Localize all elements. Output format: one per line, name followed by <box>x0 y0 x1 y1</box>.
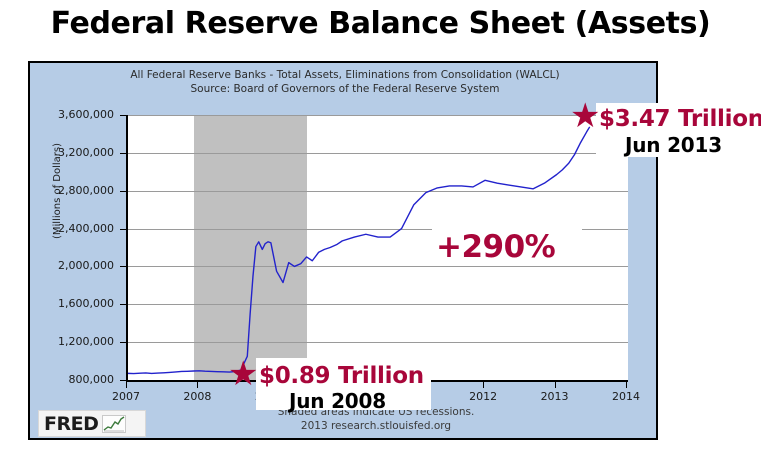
y-axis-tick-mark <box>120 380 126 381</box>
x-axis-tick-label: 2012 <box>459 390 507 403</box>
x-axis-tick-mark <box>197 382 198 388</box>
peak-date-label: Jun 2013 <box>625 133 722 157</box>
x-axis-tick-label: 2014 <box>602 390 650 403</box>
star-icon-trough: ★ <box>228 357 258 391</box>
y-axis-tick-mark <box>120 229 126 230</box>
y-axis-tick-label: 3,600,000 <box>54 108 114 121</box>
y-axis-tick-label: 2,400,000 <box>54 222 114 235</box>
growth-percent-label: +290% <box>436 229 555 265</box>
trough-date-label: Jun 2008 <box>289 389 386 413</box>
y-axis-tick-label: 1,200,000 <box>54 335 114 348</box>
x-axis-tick-mark <box>483 382 484 388</box>
y-axis-tick-mark <box>120 153 126 154</box>
x-axis-tick-label: 2008 <box>173 390 221 403</box>
y-axis-tick-mark <box>120 304 126 305</box>
chart-subtitle-line-2: Source: Board of Governors of the Federa… <box>30 82 660 96</box>
peak-value-label: $3.47 Trillion <box>599 106 761 132</box>
page-title: Federal Reserve Balance Sheet (Assets) <box>0 6 761 41</box>
chart-subtitle-line-1: All Federal Reserve Banks - Total Assets… <box>30 68 660 82</box>
y-axis-tick-label: 2,800,000 <box>54 184 114 197</box>
line-chart-icon <box>102 415 126 433</box>
y-axis-tick-mark <box>120 191 126 192</box>
y-axis-tick-label: 3,200,000 <box>54 146 114 159</box>
footer-source-note: 2013 research.stlouisfed.org <box>126 419 626 433</box>
x-axis-tick-label: 2013 <box>531 390 579 403</box>
y-axis-tick-label: 800,000 <box>54 373 114 386</box>
chart-subtitle: All Federal Reserve Banks - Total Assets… <box>30 68 660 96</box>
y-axis-tick-mark <box>120 115 126 116</box>
fred-logo[interactable]: FRED <box>38 410 146 437</box>
x-axis-tick-mark <box>555 382 556 388</box>
y-axis-tick-label: 2,000,000 <box>54 259 114 272</box>
y-axis-tick-mark <box>120 266 126 267</box>
trough-value-label: $0.89 Trillion <box>259 363 424 389</box>
y-axis-tick-label: 1,600,000 <box>54 297 114 310</box>
fred-wordmark: FRED <box>44 413 98 435</box>
x-axis-tick-mark <box>626 382 627 388</box>
x-axis-tick-label: 2007 <box>102 390 150 403</box>
y-axis-tick-mark <box>120 342 126 343</box>
x-axis-tick-mark <box>126 382 127 388</box>
star-icon-peak: ★ <box>570 99 600 133</box>
